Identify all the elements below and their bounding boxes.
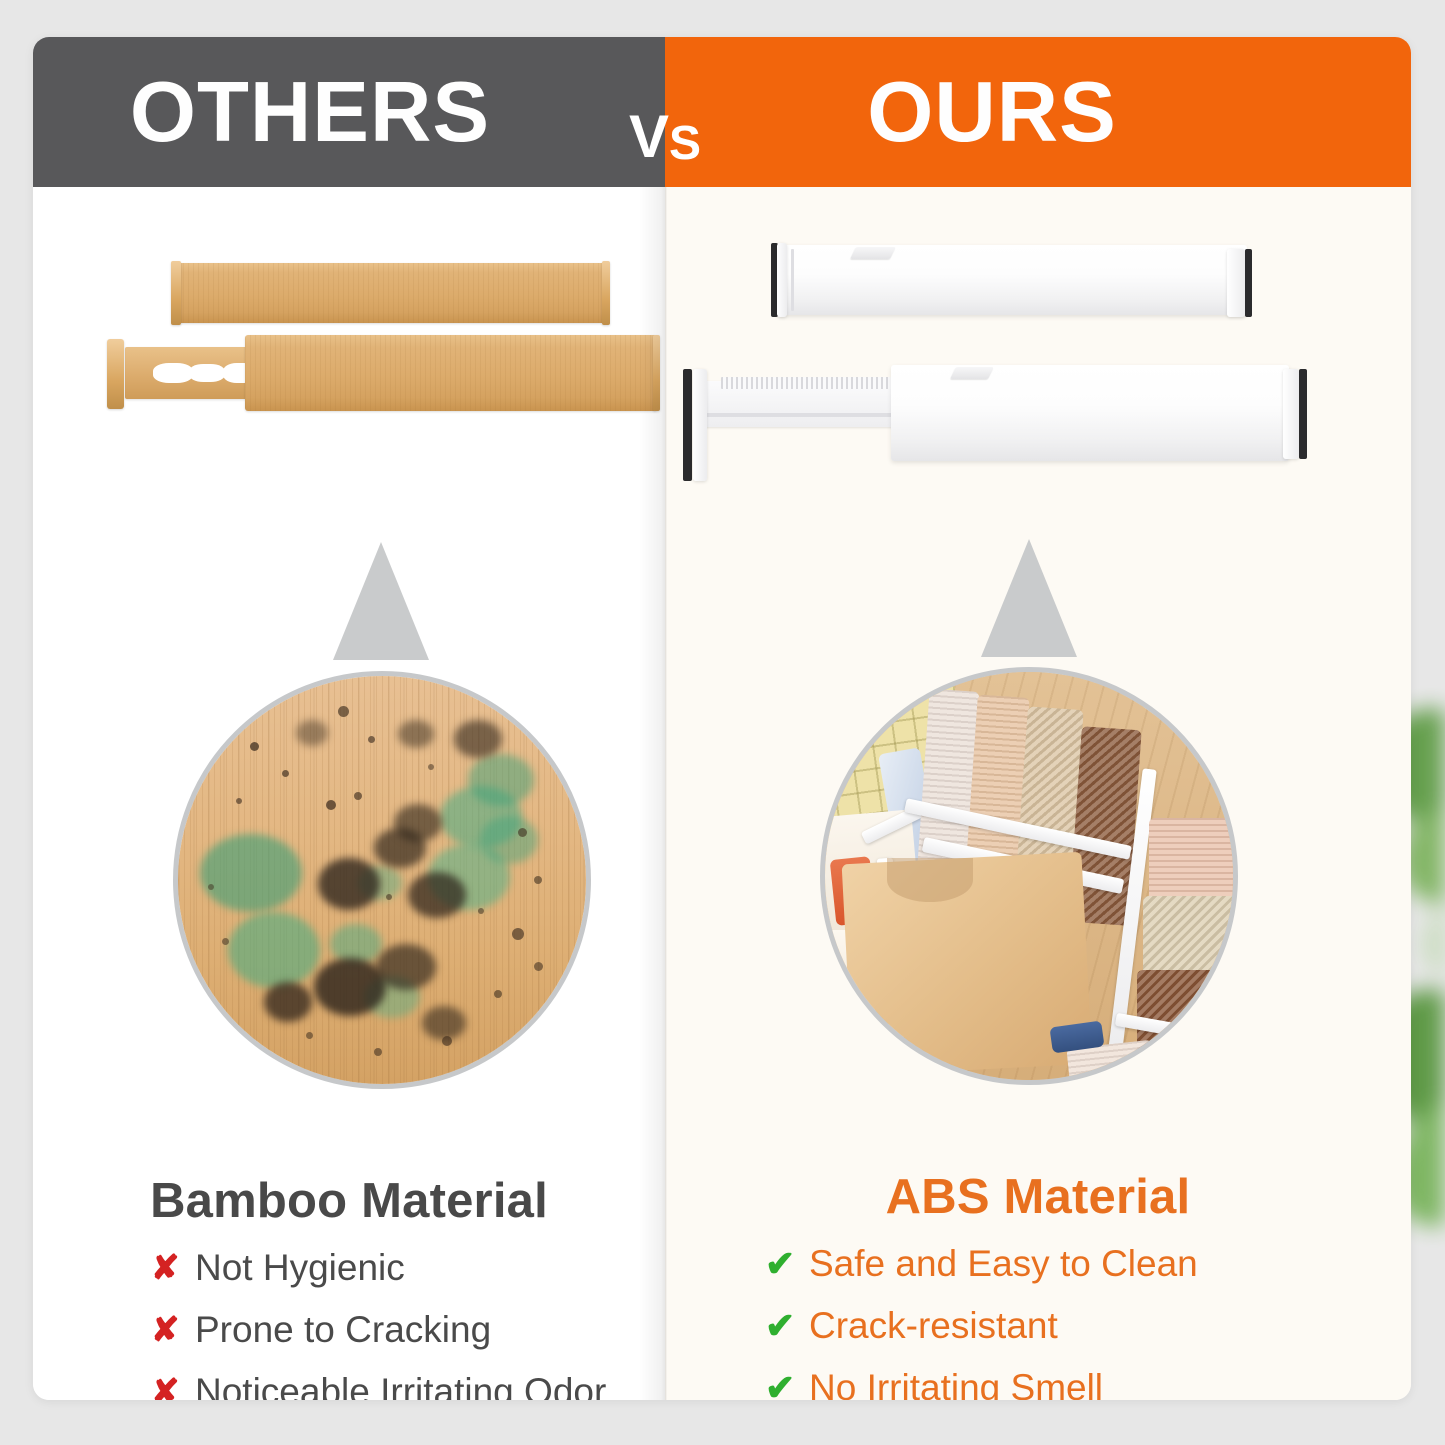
shirt-neckline [887, 858, 973, 902]
mold-speck [306, 1032, 313, 1039]
header-others-band: OTHERS [33, 37, 665, 187]
list-item: ✘ Prone to Cracking [151, 1311, 606, 1348]
mold-speck [518, 828, 527, 837]
ours-pane: ABS Material ✔ Safe and Easy to Clean ✔ … [665, 187, 1411, 1400]
abs-endcap-white [1283, 369, 1299, 459]
mold-speck [354, 792, 362, 800]
list-item-label: No Irritating Smell [809, 1369, 1103, 1400]
abs-endcap-white [777, 243, 787, 317]
others-title: OTHERS [130, 70, 490, 155]
mold-speck [386, 894, 392, 900]
header-ours-band: OURS [665, 37, 1411, 187]
bamboo-endcap [653, 335, 660, 411]
cross-icon: ✘ [151, 1313, 195, 1347]
abs-grip-tab [950, 367, 994, 379]
black-mold-blob [318, 858, 380, 910]
bamboo-endcap [107, 339, 124, 409]
list-item-label: Crack-resistant [809, 1307, 1058, 1344]
abs-product-image [665, 187, 1411, 527]
rail-slot [153, 363, 193, 383]
mold-speck [282, 770, 289, 777]
mold-speck [534, 962, 543, 971]
green-mold-blob [200, 834, 302, 912]
list-item-label: Safe and Easy to Clean [809, 1245, 1198, 1282]
black-mold-blob [376, 944, 436, 990]
abs-material-title: ABS Material [665, 1173, 1411, 1222]
list-item: ✔ Crack-resistant [765, 1307, 1198, 1344]
mold-speck [222, 938, 229, 945]
mold-speck [442, 1036, 452, 1046]
black-mold-blob [394, 804, 442, 842]
zoom-pointer-right [981, 539, 1077, 657]
black-mold-blob [422, 1006, 466, 1040]
list-item-label: Noticeable Irritating Odor [195, 1373, 606, 1400]
bamboo-drawbacks-list: ✘ Not Hygienic ✘ Prone to Cracking ✘ Not… [151, 1249, 606, 1400]
bamboo-material-title: Bamboo Material [33, 1177, 665, 1226]
bamboo-board-bottom [245, 335, 657, 411]
drawer-interior [825, 672, 1233, 1080]
black-mold-blob [408, 872, 466, 918]
mold-speck [338, 706, 349, 717]
list-item: ✔ No Irritating Smell [765, 1369, 1198, 1400]
mold-speck [428, 764, 434, 770]
list-item: ✔ Safe and Easy to Clean [765, 1245, 1198, 1282]
mold-speck [208, 884, 214, 890]
cross-icon: ✘ [151, 1251, 195, 1285]
abs-endcap-black [1299, 369, 1307, 459]
mold-speck [368, 736, 375, 743]
mold-speck [534, 876, 542, 884]
green-mold-blob [228, 912, 320, 988]
list-item-label: Prone to Cracking [195, 1311, 491, 1348]
check-icon: ✔ [765, 1308, 809, 1344]
abs-board-top [777, 245, 1247, 315]
rail-slot [189, 364, 225, 382]
black-mold-blob [454, 720, 502, 758]
abs-endcap-white [693, 369, 707, 481]
mold-speck [494, 990, 502, 998]
list-item-label: Not Hygienic [195, 1249, 405, 1286]
mold-speck [374, 1048, 382, 1056]
others-pane: Bamboo Material ✘ Not Hygienic ✘ Prone t… [33, 187, 665, 1400]
mold-closeup-circle [173, 671, 591, 1089]
black-mold-blob [264, 982, 312, 1022]
abs-grip-tab [850, 247, 896, 259]
black-mold-blob [296, 720, 328, 746]
abs-groove [791, 249, 794, 311]
bamboo-board-top [173, 263, 606, 323]
mold-speck [236, 798, 242, 804]
folded-garment-right [1149, 818, 1238, 904]
cross-icon: ✘ [151, 1375, 195, 1401]
mold-speck [478, 908, 484, 914]
folded-garment-right [1143, 896, 1238, 976]
comparison-body: Bamboo Material ✘ Not Hygienic ✘ Prone t… [33, 187, 1411, 1400]
check-icon: ✔ [765, 1246, 809, 1282]
green-mold-blob [468, 754, 534, 806]
abs-groove [701, 413, 899, 417]
drawer-closeup-circle [820, 667, 1238, 1085]
check-icon: ✔ [765, 1370, 809, 1401]
zoom-pointer-left [333, 542, 429, 660]
ours-title: OURS [867, 70, 1117, 155]
abs-benefits-list: ✔ Safe and Easy to Clean ✔ Crack-resista… [765, 1245, 1198, 1400]
black-mold-blob [398, 720, 434, 748]
green-mold-blob [480, 816, 538, 864]
abs-endcap-white [1227, 249, 1245, 317]
abs-endcap-black [683, 369, 692, 481]
comparison-card: OTHERS OURS V S [33, 37, 1411, 1400]
list-item: ✘ Not Hygienic [151, 1249, 606, 1286]
list-item: ✘ Noticeable Irritating Odor [151, 1373, 606, 1400]
bamboo-endcap [171, 261, 181, 325]
bamboo-endcap [602, 261, 610, 325]
bamboo-product-image [33, 187, 665, 517]
abs-rail-teeth [721, 377, 891, 389]
vs-letter-v: V [629, 107, 669, 167]
abs-endcap-black [1245, 249, 1252, 317]
mold-speck [512, 928, 524, 940]
mold-speck [250, 742, 259, 751]
vs-letter-s: S [669, 120, 701, 168]
vs-badge: V S [629, 87, 749, 167]
infographic-canvas: OTHERS OURS V S [0, 0, 1445, 1445]
mold-speck [326, 800, 336, 810]
abs-board-bottom [891, 365, 1289, 461]
